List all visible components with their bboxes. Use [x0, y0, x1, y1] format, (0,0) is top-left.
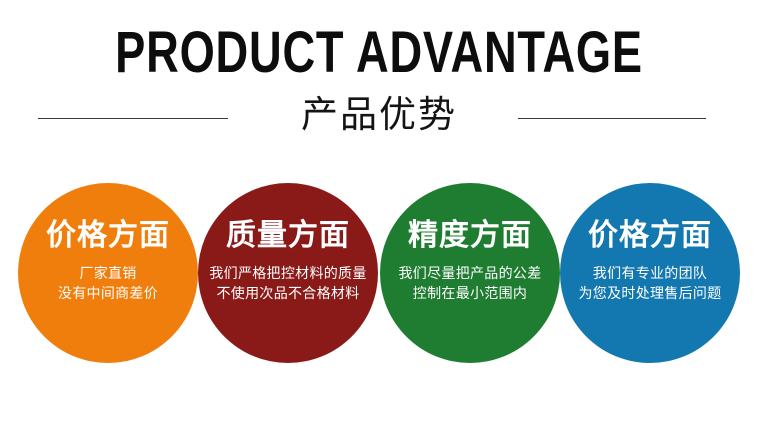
advantage-body: 我们有专业的团队 为您及时处理售后问题 [579, 264, 722, 304]
advantage-body: 我们严格把控材料的质量 不使用次品不合格材料 [209, 264, 366, 304]
advantage-body-line-2: 不使用次品不合格材料 [209, 284, 366, 304]
advantage-heading: 价格方面 [46, 218, 170, 254]
page-title-chinese: 产品优势 [0, 92, 758, 138]
subtitle-row: 产品优势 [0, 92, 758, 144]
advantage-heading: 精度方面 [408, 218, 532, 254]
advantage-body-line-2: 为您及时处理售后问题 [579, 284, 722, 304]
advantage-body: 我们尽量把产品的公差 控制在最小范围内 [399, 264, 542, 304]
divider-right [518, 118, 706, 119]
advantage-body-line-2: 没有中间商差价 [58, 284, 158, 304]
advantage-circle-quality[interactable]: 质量方面 我们严格把控材料的质量 不使用次品不合格材料 [198, 183, 378, 363]
header: PRODUCT ADVANTAGE 产品优势 [0, 0, 758, 150]
advantage-circle-precision[interactable]: 精度方面 我们尽量把产品的公差 控制在最小范围内 [380, 183, 560, 363]
advantage-body-line-2: 控制在最小范围内 [399, 284, 542, 304]
product-advantage-banner: PRODUCT ADVANTAGE 产品优势 价格方面 厂家直销 没有中间商差价… [0, 0, 758, 447]
advantage-circle-price[interactable]: 价格方面 厂家直销 没有中间商差价 [18, 183, 198, 363]
page-title-english: PRODUCT ADVANTAGE [83, 24, 674, 82]
advantage-heading: 价格方面 [588, 218, 712, 254]
advantage-body-line-1: 厂家直销 [58, 264, 158, 284]
advantage-body-line-1: 我们尽量把产品的公差 [399, 264, 542, 284]
advantage-circle-service[interactable]: 价格方面 我们有专业的团队 为您及时处理售后问题 [560, 183, 740, 363]
advantage-circle-group: 价格方面 厂家直销 没有中间商差价 质量方面 我们严格把控材料的质量 不使用次品… [0, 183, 758, 363]
advantage-heading: 质量方面 [226, 218, 350, 254]
advantage-body-line-1: 我们严格把控材料的质量 [209, 264, 366, 284]
advantage-body-line-1: 我们有专业的团队 [579, 264, 722, 284]
advantage-body: 厂家直销 没有中间商差价 [58, 264, 158, 304]
